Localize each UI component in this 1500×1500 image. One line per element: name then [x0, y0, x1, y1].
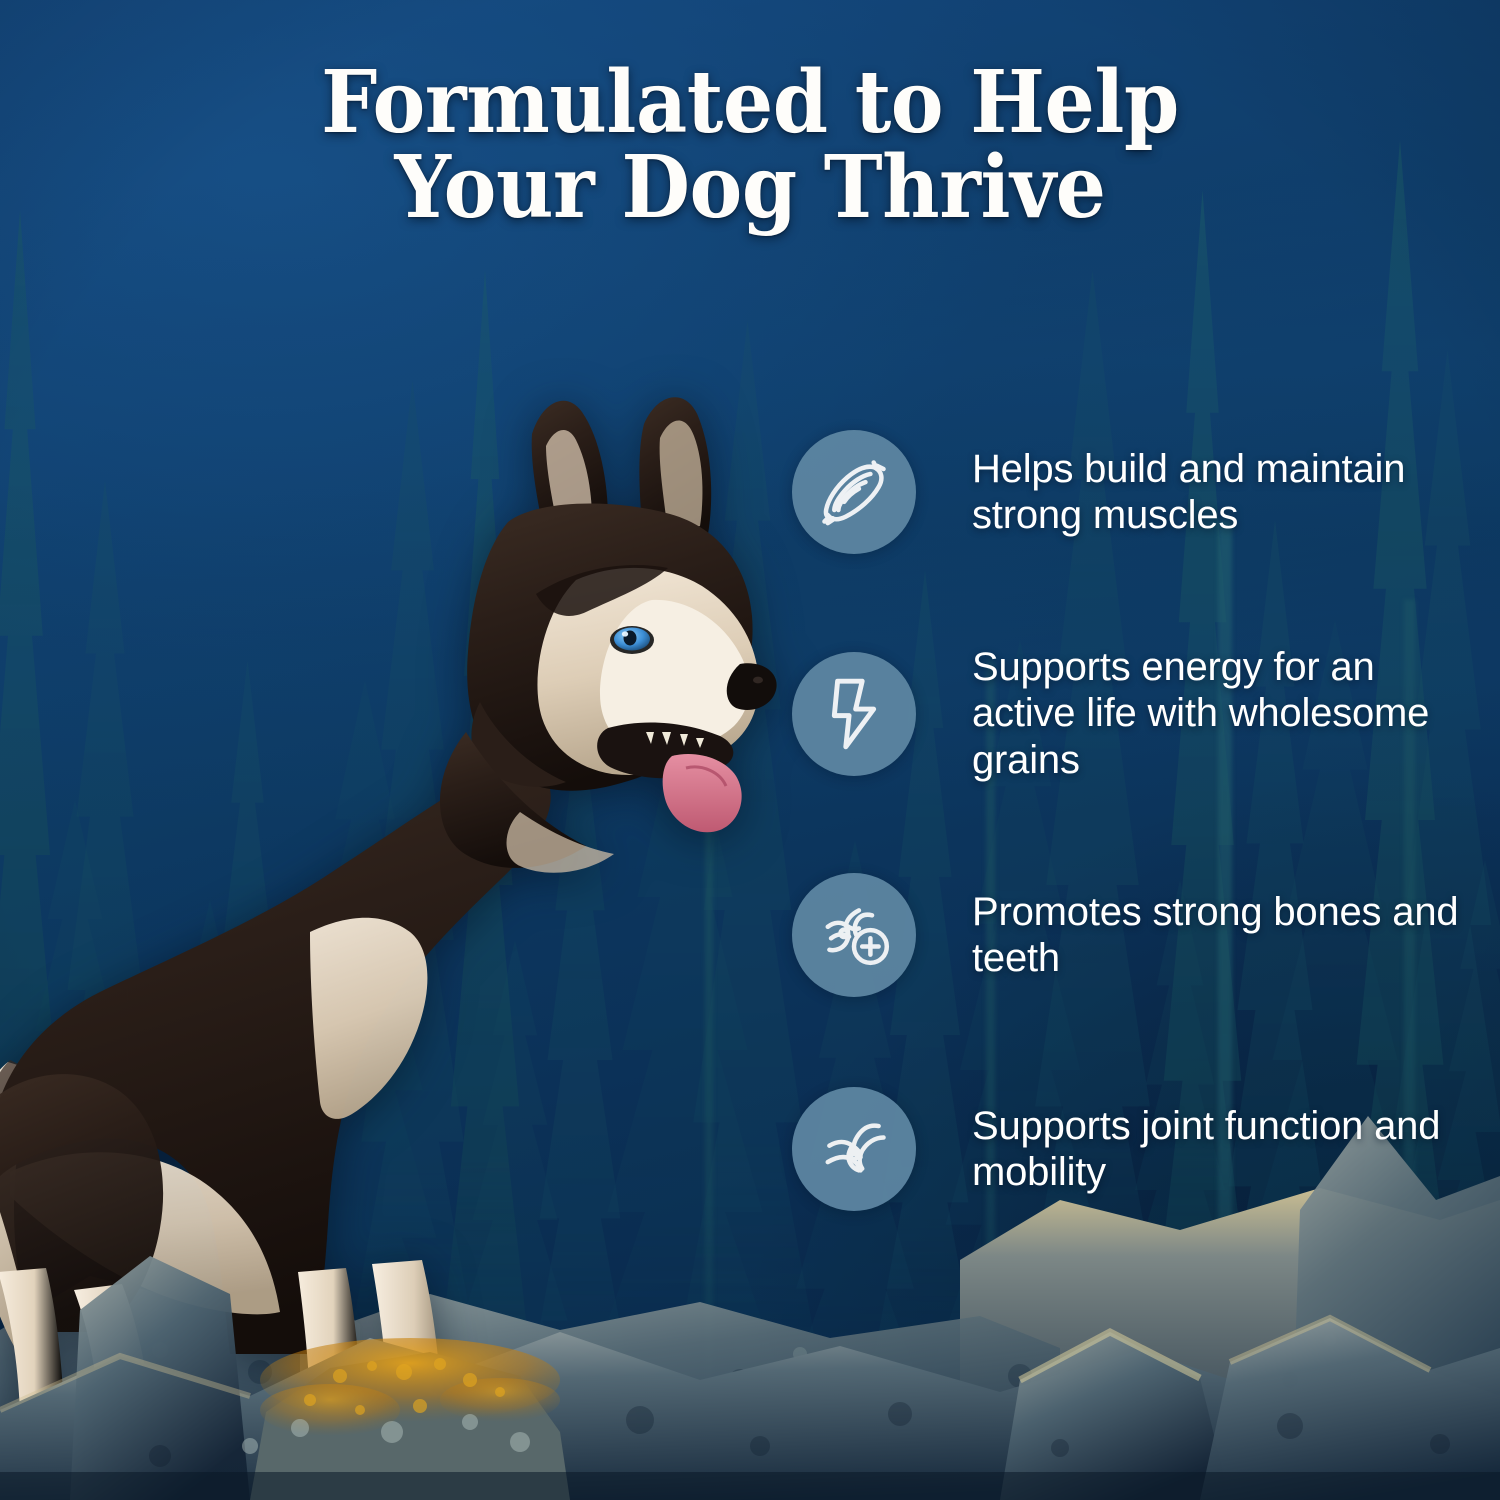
benefit-text: Supports energy for an active life with …	[972, 644, 1472, 783]
benefits-list: Helps build and maintain strong muscles …	[792, 430, 1482, 1211]
benefit-item-bones: Promotes strong bones and teeth	[792, 873, 1482, 997]
benefit-item-joints: Supports joint function and mobility	[792, 1087, 1482, 1211]
benefit-text: Supports joint function and mobility	[972, 1103, 1472, 1196]
bone-plus-icon	[792, 873, 916, 997]
page-title: Formulated to Help Your Dog Thrive	[60, 60, 1440, 230]
benefit-text: Helps build and maintain strong muscles	[972, 446, 1472, 539]
muscle-icon	[792, 430, 916, 554]
lightning-bolt-icon	[792, 652, 916, 776]
headline-line-2: Your Dog Thrive	[60, 145, 1440, 230]
product-feature-banner: Formulated to Help Your Dog Thrive	[0, 0, 1500, 1500]
joint-icon	[792, 1087, 916, 1211]
benefit-text: Promotes strong bones and teeth	[972, 889, 1472, 982]
benefit-item-muscles: Helps build and maintain strong muscles	[792, 430, 1482, 554]
benefit-item-energy: Supports energy for an active life with …	[792, 644, 1482, 783]
